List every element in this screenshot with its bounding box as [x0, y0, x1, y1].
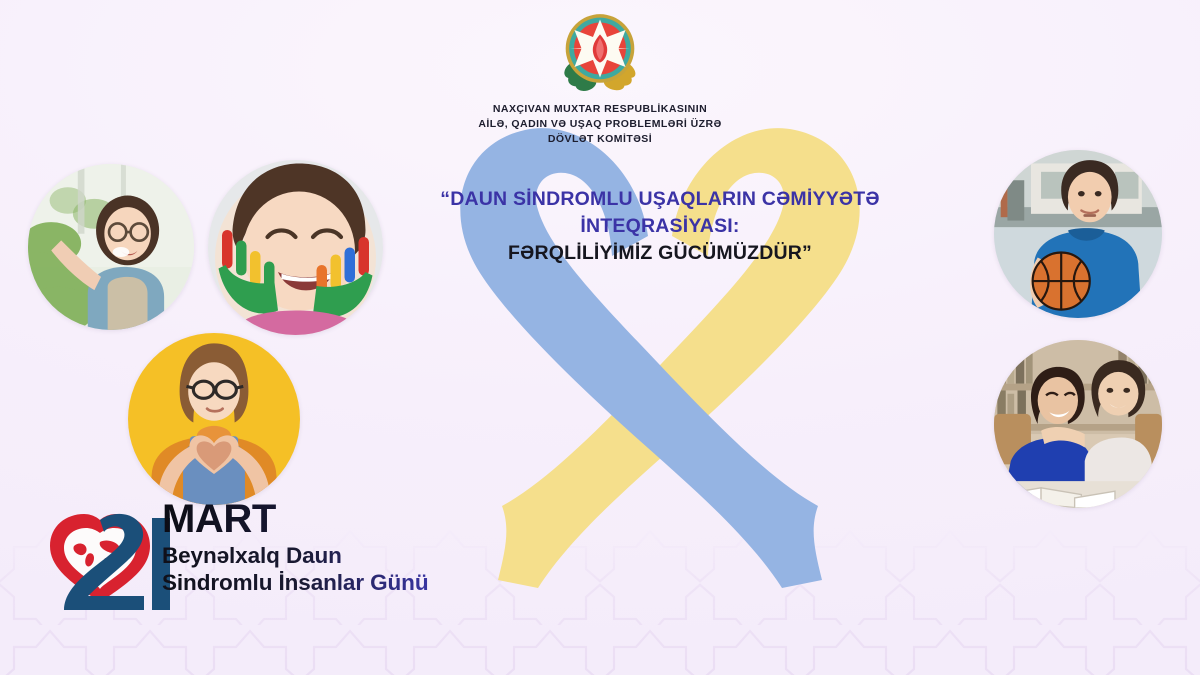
headline-slogan: “DAUN SİNDROMLU UŞAQLARIN CƏMİYYƏTƏ İNTE…	[330, 186, 990, 267]
awareness-ribbon	[410, 88, 910, 598]
headline-line-1: “DAUN SİNDROMLU UŞAQLARIN CƏMİYYƏTƏ	[330, 186, 990, 213]
organisation-header: NAXÇIVAN MUXTAR RESPUBLİKASININ AİLƏ, QA…	[0, 8, 1200, 147]
photo-child-painted-hands	[208, 160, 383, 335]
headline-line-3: FƏRQLİLİYİMİZ GÜCÜMÜZDÜR”	[330, 240, 990, 267]
photo-young-man-basketball	[994, 150, 1162, 318]
day-logo-month: MART	[162, 500, 472, 539]
photo-girls-hugging-library	[994, 340, 1162, 508]
day-logo-wordmark: MART Beynəlxalq Daun Sindromlu İnsanlar …	[162, 500, 472, 597]
headline-line-2: İNTEQRASİYASI:	[330, 213, 990, 240]
organisation-name: NAXÇIVAN MUXTAR RESPUBLİKASININ AİLƏ, QA…	[478, 102, 721, 147]
photo-girl-heart-hands	[128, 333, 300, 505]
world-down-syndrome-day-logo: MART Beynəlxalq Daun Sindromlu İnsanlar …	[36, 498, 466, 620]
azerbaijan-state-emblem-icon	[556, 8, 644, 96]
day-logo-subtitle-line-1: Beynəlxalq Daun	[162, 542, 472, 569]
heart-globe-21-mark	[36, 502, 176, 610]
org-line-2: AİLƏ, QADIN VƏ UŞAQ PROBLEMLƏRİ ÜZRƏ	[478, 117, 721, 132]
org-line-1: NAXÇIVAN MUXTAR RESPUBLİKASININ	[478, 102, 721, 117]
org-line-3: DÖVLƏT KOMİTƏSİ	[478, 132, 721, 147]
day-logo-subtitle-line-2: Sindromlu İnsanlar Günü	[162, 569, 472, 596]
photo-girl-with-plants	[28, 164, 194, 330]
awareness-day-poster: NAXÇIVAN MUXTAR RESPUBLİKASININ AİLƏ, QA…	[0, 0, 1200, 675]
